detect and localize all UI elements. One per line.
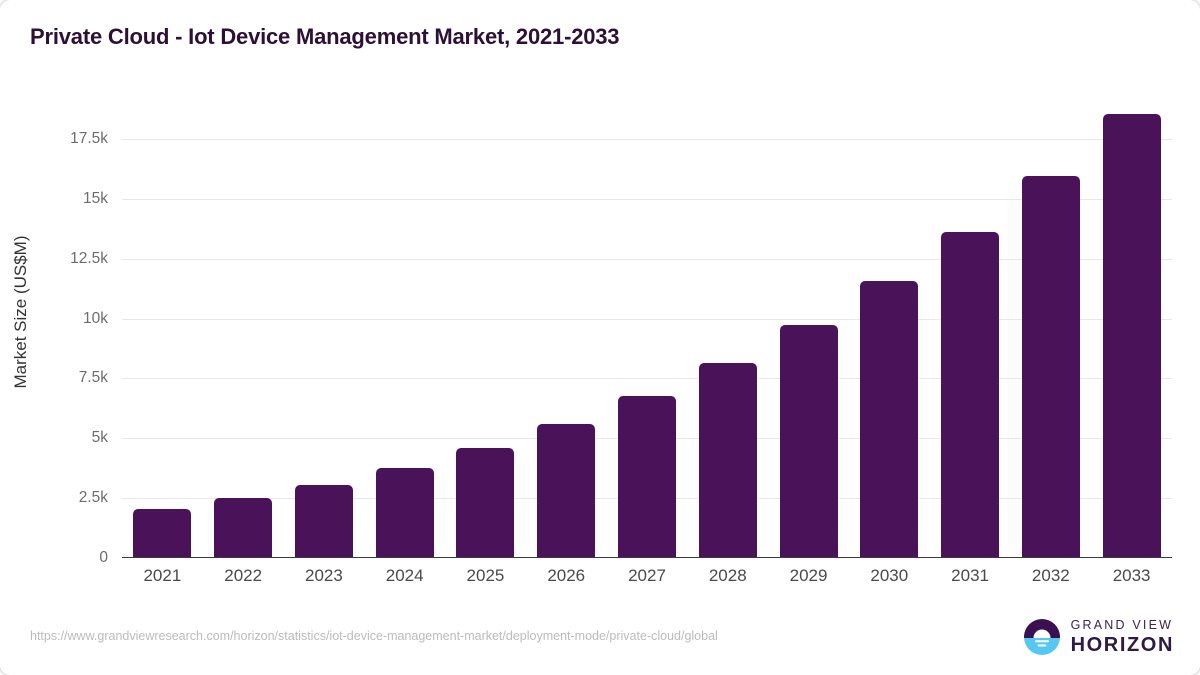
bar-slot — [607, 104, 688, 558]
x-axis-tick-labels: 2021202220232024202520262027202820292030… — [122, 566, 1172, 596]
x-axis-tick-label: 2030 — [849, 566, 930, 586]
y-axis-tick-label: 5k — [8, 429, 108, 447]
horizon-sun-logo-icon — [1022, 617, 1062, 657]
bar-slot — [122, 104, 203, 558]
bar-2026[interactable] — [537, 424, 595, 558]
bar-2030[interactable] — [860, 281, 918, 558]
y-axis-tick-label: 17.5k — [8, 130, 108, 148]
x-axis-tick-label: 2031 — [930, 566, 1011, 586]
bar-2023[interactable] — [295, 485, 353, 558]
bar-slot — [930, 104, 1011, 558]
y-axis-tick-labels: 02.5k5k7.5k10k12.5k15k17.5k — [0, 104, 108, 558]
bar-2029[interactable] — [780, 325, 838, 558]
bar-2031[interactable] — [941, 232, 999, 558]
y-axis-tick-label: 7.5k — [8, 369, 108, 387]
bar-2028[interactable] — [699, 363, 757, 558]
bar-2025[interactable] — [456, 448, 514, 558]
bar-slot — [1010, 104, 1091, 558]
bar-2027[interactable] — [618, 396, 676, 558]
x-axis-tick-label: 2027 — [607, 566, 688, 586]
x-axis-tick-label: 2029 — [768, 566, 849, 586]
y-axis-tick-label: 12.5k — [8, 250, 108, 268]
brand-text: GRAND VIEW HORIZON — [1071, 619, 1174, 655]
x-axis-tick-label: 2021 — [122, 566, 203, 586]
source-url: https://www.grandviewresearch.com/horizo… — [30, 629, 718, 643]
x-axis-tick-label: 2023 — [284, 566, 365, 586]
bar-slot — [445, 104, 526, 558]
bar-2024[interactable] — [376, 468, 434, 558]
y-axis-tick-label: 0 — [8, 549, 108, 567]
x-axis-tick-label: 2025 — [445, 566, 526, 586]
page-title: Private Cloud - Iot Device Management Ma… — [30, 24, 619, 50]
y-axis-tick-label: 10k — [8, 310, 108, 328]
bar-slot — [768, 104, 849, 558]
bar-2033[interactable] — [1103, 114, 1161, 558]
bar-2021[interactable] — [133, 509, 191, 558]
bar-2022[interactable] — [214, 498, 272, 558]
y-axis-tick-label: 15k — [8, 190, 108, 208]
bar-slot — [687, 104, 768, 558]
bar-slot — [1091, 104, 1172, 558]
plot-area — [122, 104, 1172, 558]
bar-slot — [526, 104, 607, 558]
bar-slot — [849, 104, 930, 558]
brand-line-grand-view: GRAND VIEW — [1071, 619, 1174, 632]
bar-2032[interactable] — [1022, 176, 1080, 558]
x-axis-tick-label: 2032 — [1010, 566, 1091, 586]
x-axis-tick-label: 2022 — [203, 566, 284, 586]
y-axis-tick-label: 2.5k — [8, 489, 108, 507]
bar-slot — [364, 104, 445, 558]
bar-slot — [284, 104, 365, 558]
x-axis-tick-label: 2033 — [1091, 566, 1172, 586]
x-axis-tick-label: 2026 — [526, 566, 607, 586]
x-axis-line — [122, 557, 1172, 559]
bar-slot — [203, 104, 284, 558]
x-axis-tick-label: 2024 — [364, 566, 445, 586]
brand-line-horizon: HORIZON — [1071, 635, 1174, 655]
x-axis-tick-label: 2028 — [687, 566, 768, 586]
brand-logo: GRAND VIEW HORIZON — [1022, 617, 1174, 657]
chart-card: Private Cloud - Iot Device Management Ma… — [0, 0, 1200, 675]
